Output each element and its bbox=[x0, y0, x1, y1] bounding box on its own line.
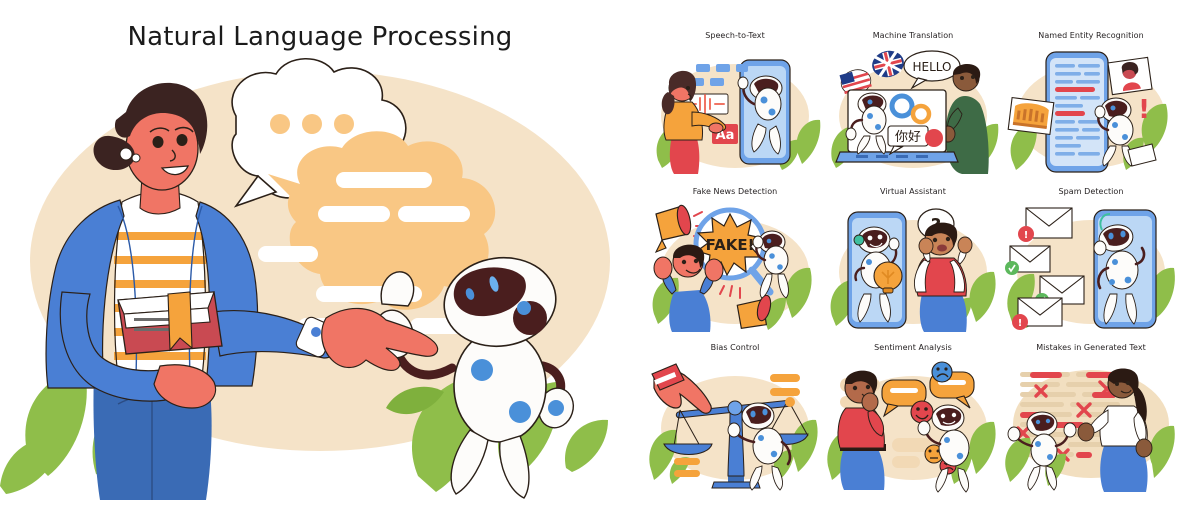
cell-label: Bias Control bbox=[711, 342, 760, 354]
grid-cell-named-entity-recognition[interactable]: Named Entity Recognition bbox=[1004, 30, 1178, 182]
grid-cell-fake-news-detection[interactable]: Fake News Detection bbox=[648, 186, 822, 338]
named-entity-recognition-illustration: ! bbox=[1004, 42, 1178, 182]
bubble-text-bar bbox=[318, 206, 390, 222]
cell-label: Speech-to-Text bbox=[705, 30, 765, 42]
speech-to-text-illustration: Aa bbox=[648, 42, 822, 182]
cell-label: Fake News Detection bbox=[693, 186, 778, 198]
grid-cell-speech-to-text[interactable]: Speech-to-Text bbox=[648, 30, 822, 182]
grid-cell-sentiment-analysis[interactable]: Sentiment Analysis bbox=[826, 342, 1000, 494]
envelope-item: ! bbox=[1018, 208, 1072, 242]
machine-translation-illustration: HELLO bbox=[826, 42, 1000, 182]
spam-detection-illustration: ! bbox=[1004, 198, 1178, 338]
entity-card-landmark bbox=[1008, 98, 1054, 135]
entity-card-person bbox=[1108, 57, 1152, 94]
headphone bbox=[854, 235, 864, 245]
mistakes-in-generated-text-illustration bbox=[1004, 354, 1178, 494]
grid-cell-mistakes-in-generated-text[interactable]: Mistakes in Generated Text bbox=[1004, 342, 1178, 494]
envelope-item: ! bbox=[1012, 298, 1062, 330]
svg-text:FAKE!: FAKE! bbox=[706, 236, 755, 254]
person-small bbox=[914, 223, 972, 332]
laptop: 你好 bbox=[836, 90, 958, 162]
bubble-dot bbox=[334, 114, 354, 134]
eye bbox=[177, 134, 188, 146]
cell-label: Mistakes in Generated Text bbox=[1036, 342, 1146, 354]
virtual-assistant-illustration: ? bbox=[826, 198, 1000, 338]
grid-cell-bias-control[interactable]: Bias Control bbox=[648, 342, 822, 494]
status-badge-ok bbox=[1005, 261, 1019, 275]
grid-cell-spam-detection[interactable]: Spam Detection ! bbox=[1004, 186, 1178, 338]
red-ball bbox=[925, 129, 943, 147]
hero-illustration bbox=[0, 56, 640, 500]
bias-control-illustration bbox=[648, 354, 822, 494]
grid-cell-machine-translation[interactable]: Machine Translation bbox=[826, 30, 1000, 182]
cell-label: Virtual Assistant bbox=[880, 186, 946, 198]
bubble-text-bar bbox=[398, 206, 470, 222]
emoji-sad bbox=[932, 362, 952, 382]
earring bbox=[132, 154, 140, 162]
svg-text:!: ! bbox=[1024, 230, 1029, 241]
cell-label: Named Entity Recognition bbox=[1038, 30, 1143, 42]
svg-text:你好: 你好 bbox=[895, 130, 921, 145]
bubble-text-bar bbox=[258, 246, 318, 262]
concept-grid: Speech-to-Text bbox=[648, 30, 1178, 492]
cell-label: Machine Translation bbox=[873, 30, 954, 42]
sentiment-analysis-illustration bbox=[826, 354, 1000, 494]
books-stack bbox=[118, 292, 222, 354]
eye bbox=[153, 136, 164, 148]
svg-text:!: ! bbox=[1018, 318, 1023, 329]
hair-tie bbox=[120, 148, 132, 160]
page-title: Natural Language Processing bbox=[0, 22, 640, 52]
bubble-text-bar bbox=[336, 172, 432, 188]
emoji-happy bbox=[911, 401, 933, 423]
cell-label: Spam Detection bbox=[1059, 186, 1124, 198]
nlp-infographic: Natural Language Processing bbox=[0, 0, 1182, 500]
bubble-dot bbox=[302, 114, 322, 134]
hero-section: Natural Language Processing bbox=[0, 0, 640, 500]
grid-cell-virtual-assistant[interactable]: Virtual Assistant bbox=[826, 186, 1000, 338]
bubble-dot bbox=[270, 114, 290, 134]
fake-news-detection-illustration: FAKE! bbox=[648, 198, 822, 338]
svg-text:HELLO: HELLO bbox=[913, 60, 952, 74]
cell-label: Sentiment Analysis bbox=[874, 342, 952, 354]
envelope-item bbox=[1005, 246, 1050, 275]
alert-mark: ! bbox=[1138, 95, 1150, 125]
